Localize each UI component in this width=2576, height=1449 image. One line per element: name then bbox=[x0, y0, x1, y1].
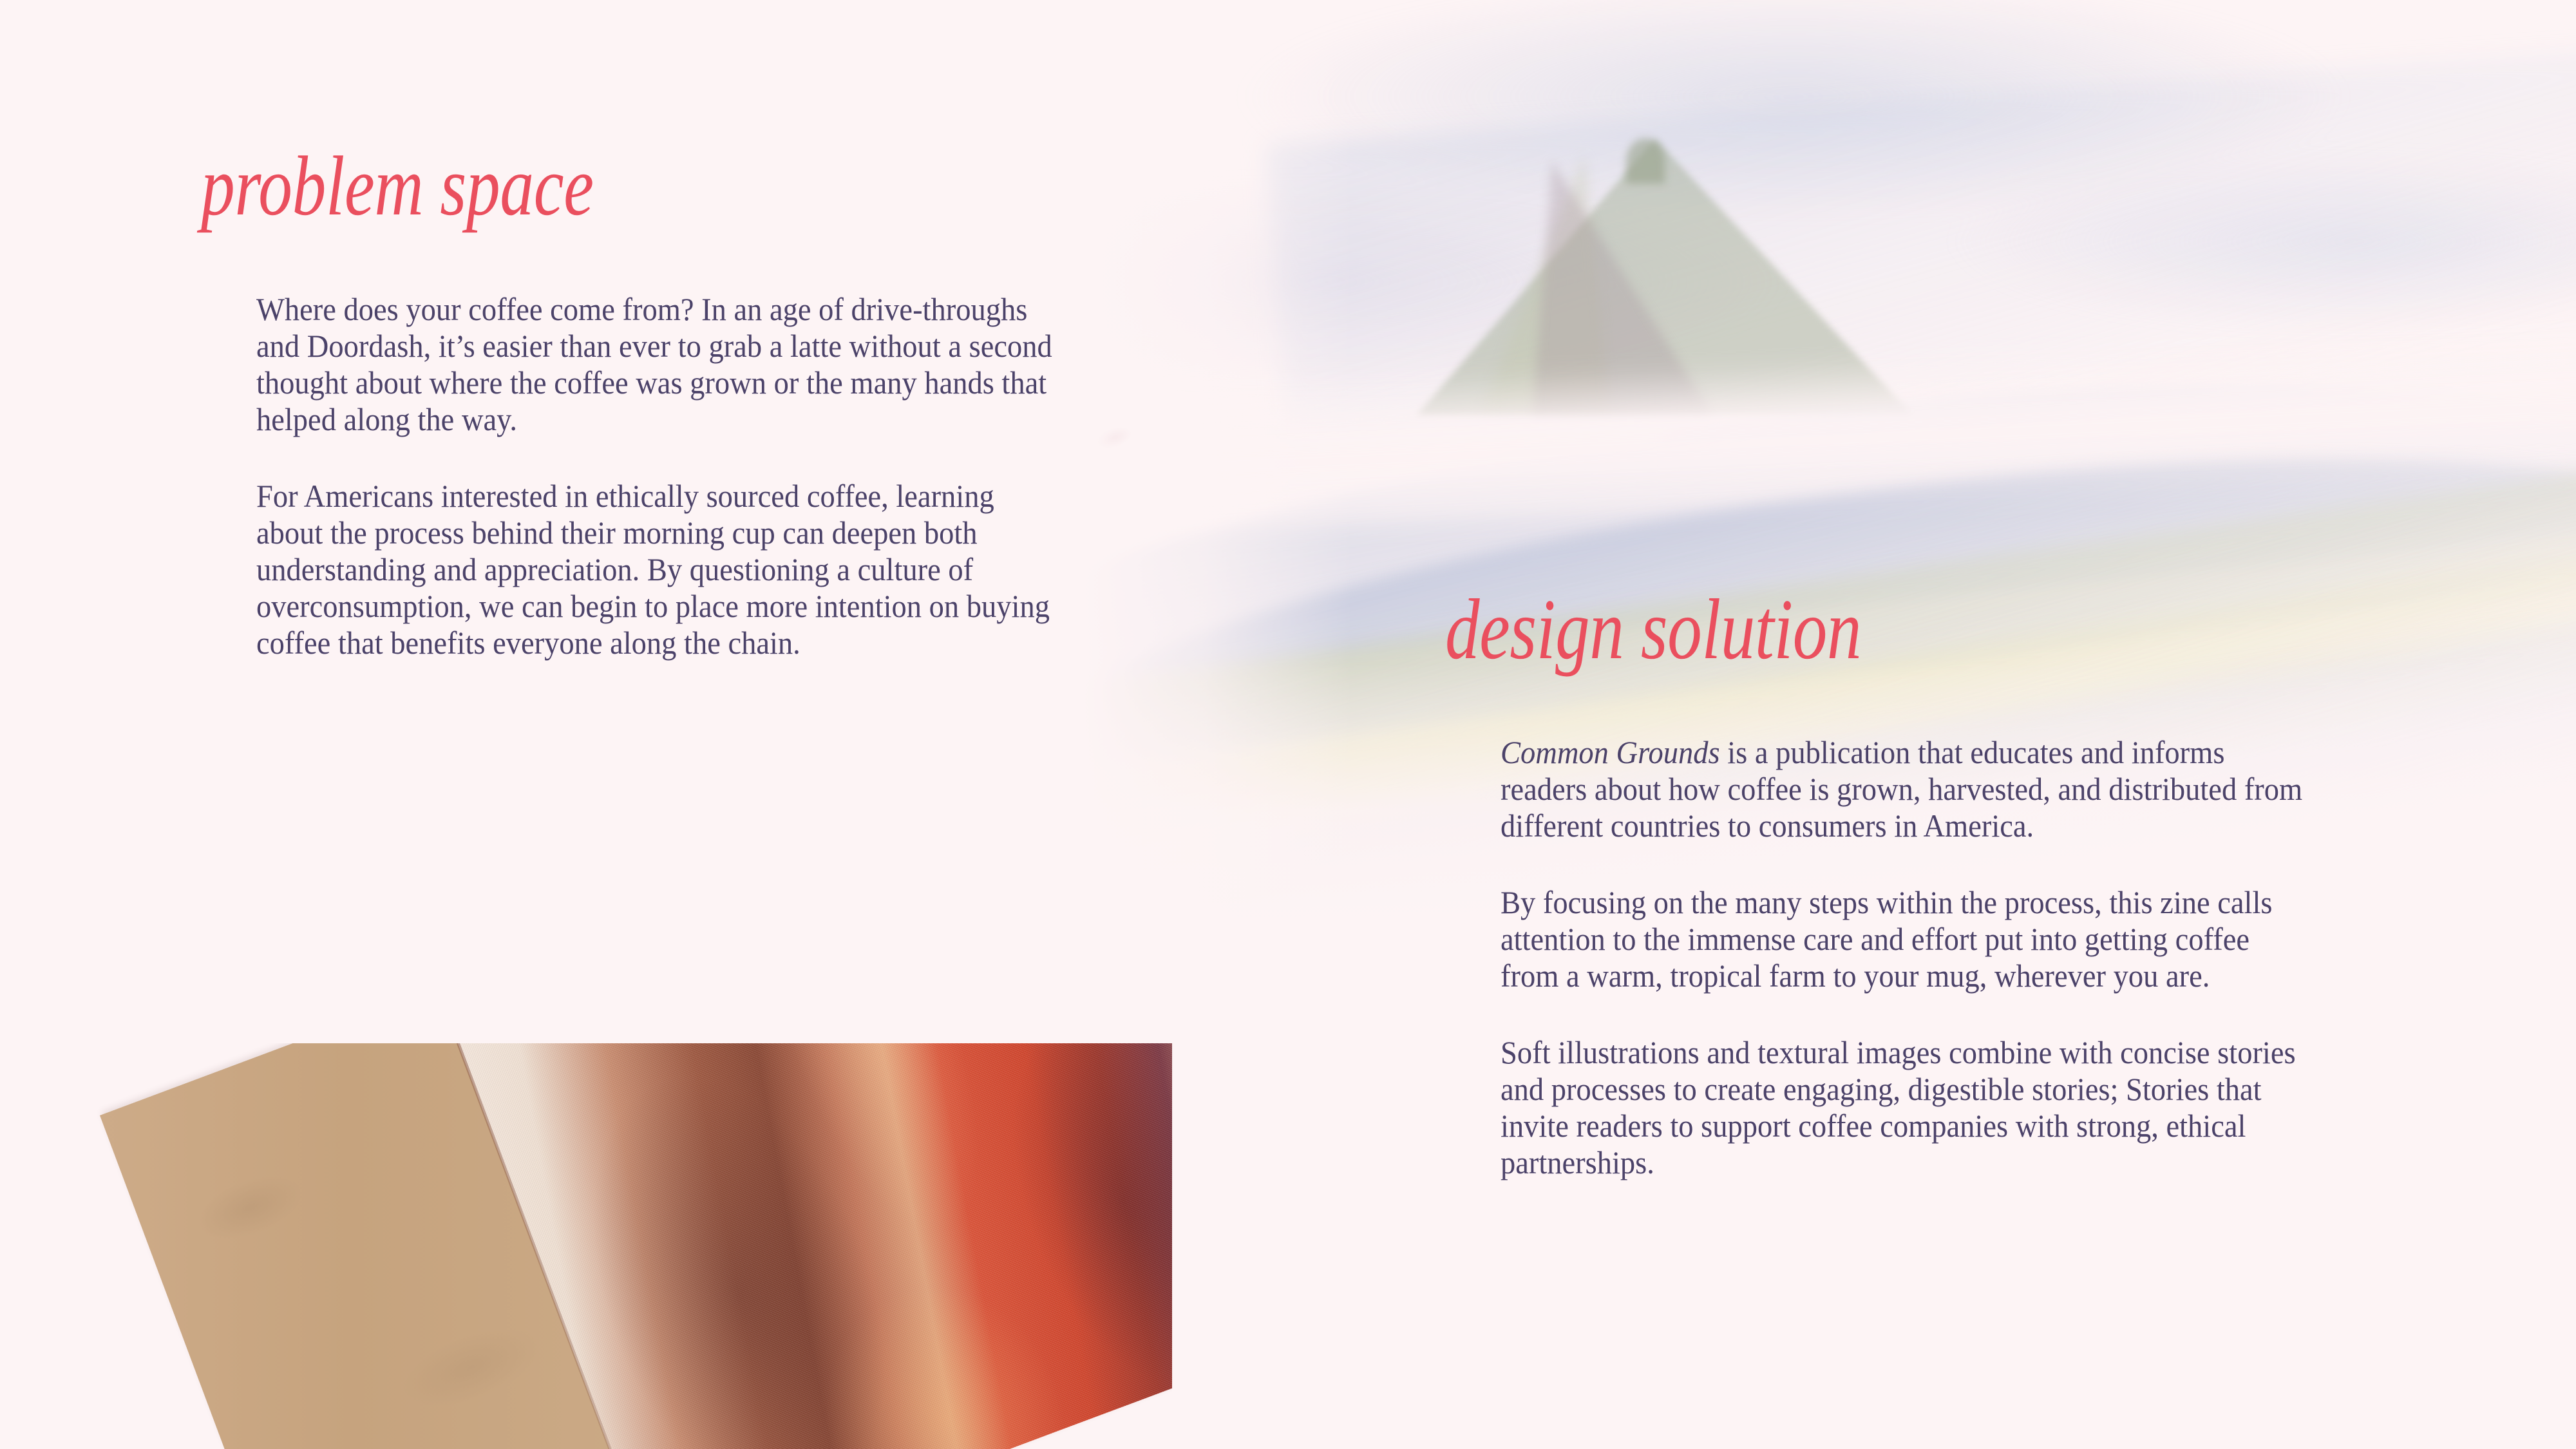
slide-canvas: problem space Where does your coffee com… bbox=[0, 0, 2576, 1449]
zine-photo-container bbox=[39, 1043, 1172, 1449]
design-solution-paragraph-2: By focusing on the many steps within the… bbox=[1501, 884, 2306, 994]
publication-title: Common Grounds bbox=[1501, 734, 1720, 770]
mountain-highlight bbox=[1481, 155, 1610, 412]
problem-space-heading: problem space bbox=[201, 137, 594, 235]
problem-space-column: Where does your coffee come from? In an … bbox=[256, 291, 1113, 661]
mountain-shape bbox=[1417, 138, 1913, 415]
zine-page-seam bbox=[437, 1043, 661, 1449]
problem-space-paragraph-2: For Americans interested in ethically so… bbox=[256, 478, 1053, 661]
landscape-left-fade bbox=[1082, 0, 1352, 934]
zine-spread bbox=[100, 1043, 1172, 1449]
zine-kraft-paper bbox=[100, 1043, 659, 1449]
design-solution-paragraph-3: Soft illustrations and textural images c… bbox=[1501, 1034, 2306, 1181]
zine-printed-photo bbox=[438, 1043, 1172, 1449]
haze-band bbox=[1082, 321, 2576, 542]
mountain-peak bbox=[1626, 138, 1665, 184]
sky-wash bbox=[1082, 0, 2576, 502]
design-solution-column: Common Grounds is a publication that edu… bbox=[1501, 734, 2367, 1181]
problem-space-paragraph-1: Where does your coffee come from? In an … bbox=[256, 291, 1053, 438]
mountain-shadow bbox=[1533, 161, 1713, 415]
design-solution-paragraph-1: Common Grounds is a publication that edu… bbox=[1501, 734, 2306, 844]
sky-wash-secondary bbox=[1264, 37, 2576, 504]
design-solution-heading: design solution bbox=[1445, 580, 1861, 679]
